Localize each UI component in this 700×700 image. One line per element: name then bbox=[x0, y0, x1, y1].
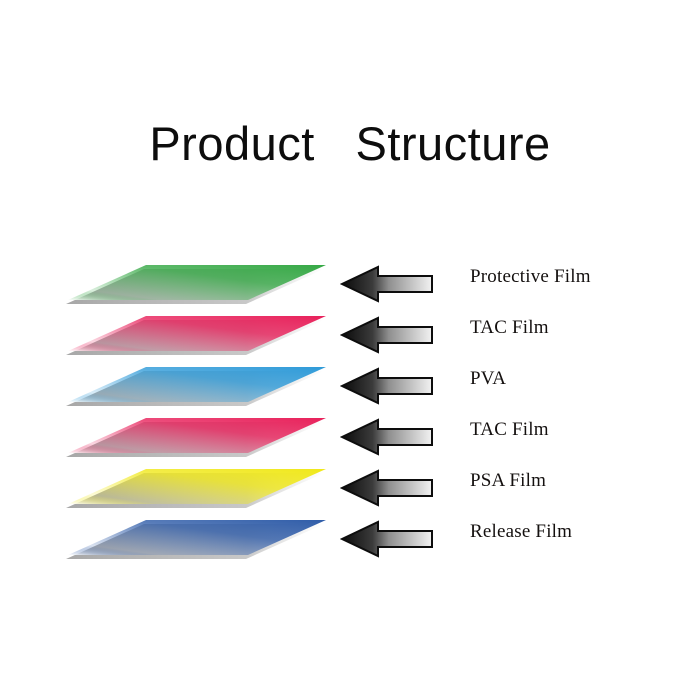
left-arrow-icon bbox=[340, 366, 436, 406]
left-arrow-icon bbox=[340, 417, 436, 457]
arrow-shape bbox=[342, 318, 432, 352]
layer-sheet bbox=[58, 411, 338, 463]
layer-sheet bbox=[58, 258, 338, 310]
arrow-shape bbox=[342, 369, 432, 403]
layer-label: TAC Film bbox=[470, 317, 549, 339]
layer-sheet bbox=[58, 513, 338, 565]
layer-label: Protective Film bbox=[470, 266, 591, 288]
layer-label: PSA Film bbox=[470, 470, 546, 492]
layer-label: Release Film bbox=[470, 521, 572, 543]
left-arrow-icon bbox=[340, 264, 436, 304]
left-arrow-icon bbox=[340, 519, 436, 559]
layer-label: PVA bbox=[470, 368, 506, 390]
arrow-shape bbox=[342, 267, 432, 301]
layer-row: PVA bbox=[0, 360, 700, 412]
layer-row: Protective Film bbox=[0, 258, 700, 310]
left-arrow-icon bbox=[340, 315, 436, 355]
layer-row: TAC Film bbox=[0, 411, 700, 463]
layer-stack: Protective FilmTAC FilmPVATAC FilmPSA Fi… bbox=[0, 0, 700, 700]
layer-sheet bbox=[58, 360, 338, 412]
layer-row: TAC Film bbox=[0, 309, 700, 361]
layer-row: PSA Film bbox=[0, 462, 700, 514]
arrow-shape bbox=[342, 471, 432, 505]
product-structure-diagram: Product Structure Protective FilmTAC Fil… bbox=[0, 0, 700, 700]
arrow-shape bbox=[342, 522, 432, 556]
arrow-shape bbox=[342, 420, 432, 454]
layer-row: Release Film bbox=[0, 513, 700, 565]
layer-label: TAC Film bbox=[470, 419, 549, 441]
layer-sheet bbox=[58, 309, 338, 361]
layer-sheet bbox=[58, 462, 338, 514]
left-arrow-icon bbox=[340, 468, 436, 508]
